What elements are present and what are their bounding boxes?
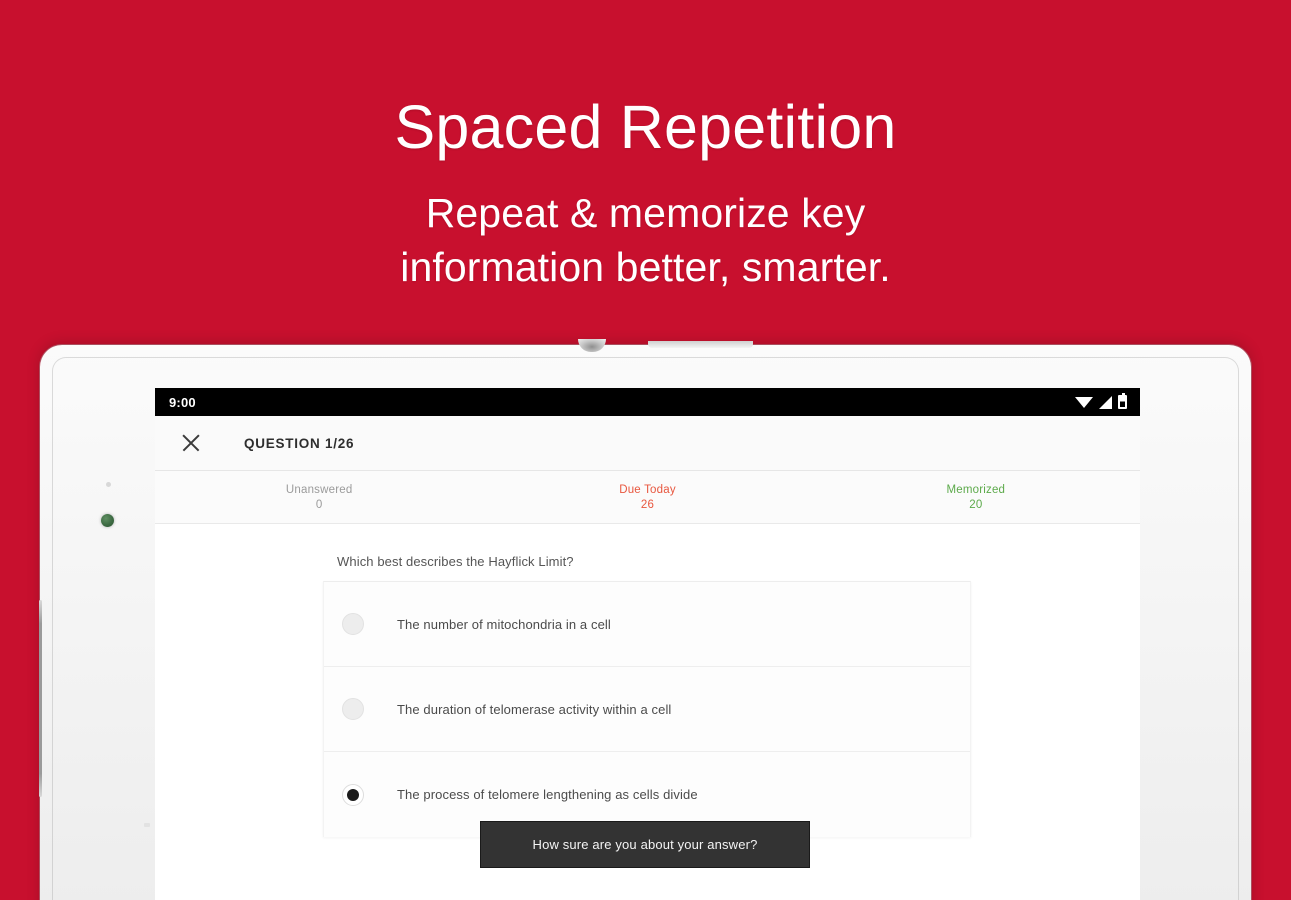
promo-subtitle-line2: information better, smarter. <box>0 240 1291 294</box>
status-led-icon <box>101 514 114 527</box>
radio-icon[interactable] <box>342 698 364 720</box>
camera-icon <box>578 339 606 352</box>
tablet-device: 9:00 QUESTION 1/26 Unanswered 0 Due Toda… <box>40 345 1251 900</box>
stat-memorized-value: 20 <box>969 499 982 511</box>
answer-options-card: The number of mitochondria in a cell The… <box>323 581 971 837</box>
promo-subtitle: Repeat & memorize key information better… <box>0 158 1291 294</box>
confidence-tooltip-text: How sure are you about your answer? <box>533 837 758 852</box>
stat-due-today-label: Due Today <box>619 484 676 496</box>
stats-strip: Unanswered 0 Due Today 26 Memorized 20 <box>155 471 1140 524</box>
tablet-screen: 9:00 QUESTION 1/26 Unanswered 0 Due Toda… <box>155 388 1140 900</box>
sensor-dot-icon <box>106 482 111 487</box>
top-speaker-port <box>648 341 753 348</box>
radio-selected-icon[interactable] <box>342 784 364 806</box>
question-counter-title: QUESTION 1/26 <box>244 436 354 451</box>
question-body: Which best describes the Hayflick Limit?… <box>155 524 1140 900</box>
stat-unanswered-value: 0 <box>316 499 323 511</box>
bezel-microphone-icon <box>144 823 150 827</box>
answer-option-3-label: The process of telomere lengthening as c… <box>397 787 698 802</box>
android-status-bar: 9:00 <box>155 388 1140 416</box>
confidence-tooltip: How sure are you about your answer? <box>480 821 810 868</box>
answer-option-1-label: The number of mitochondria in a cell <box>397 617 611 632</box>
promo-title: Spaced Repetition <box>0 0 1291 158</box>
stat-memorized-label: Memorized <box>946 484 1005 496</box>
status-bar-clock: 9:00 <box>169 395 196 410</box>
promo-banner: Spaced Repetition Repeat & memorize key … <box>0 0 1291 330</box>
wifi-icon <box>1075 397 1093 408</box>
answer-option-1[interactable]: The number of mitochondria in a cell <box>324 582 970 667</box>
app-toolbar: QUESTION 1/26 <box>155 416 1140 471</box>
stat-unanswered[interactable]: Unanswered 0 <box>155 471 483 523</box>
side-volume-button[interactable] <box>39 600 42 797</box>
radio-icon[interactable] <box>342 613 364 635</box>
answer-option-2[interactable]: The duration of telomerase activity with… <box>324 667 970 752</box>
question-text: Which best describes the Hayflick Limit? <box>155 524 1140 569</box>
battery-icon <box>1118 395 1127 409</box>
answer-option-2-label: The duration of telomerase activity with… <box>397 702 671 717</box>
signal-icon <box>1099 396 1112 409</box>
status-bar-icons <box>1075 395 1127 409</box>
close-icon[interactable] <box>180 432 202 454</box>
promo-subtitle-line1: Repeat & memorize key <box>0 186 1291 240</box>
stat-unanswered-label: Unanswered <box>286 484 353 496</box>
stat-due-today-value: 26 <box>641 499 654 511</box>
stat-memorized[interactable]: Memorized 20 <box>812 471 1140 523</box>
stat-due-today[interactable]: Due Today 26 <box>483 471 811 523</box>
